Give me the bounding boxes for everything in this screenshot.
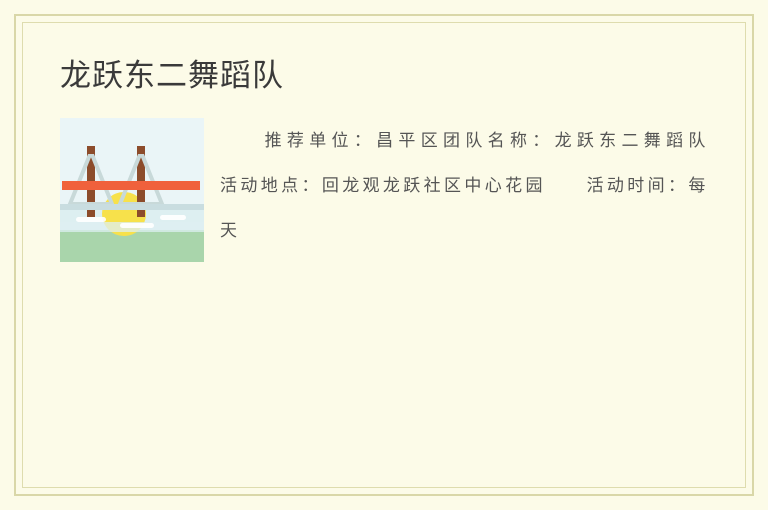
article-body: 推荐单位：昌平区团队名称：龙跃东二舞蹈队 活动地点：回龙观龙跃社区中心花园 活动… bbox=[60, 118, 708, 253]
page-root: 龙跃东二舞蹈队 bbox=[0, 0, 768, 510]
bridge-sunset-illustration-icon bbox=[60, 118, 204, 262]
page-title: 龙跃东二舞蹈队 bbox=[60, 56, 708, 96]
document-content: 龙跃东二舞蹈队 bbox=[22, 22, 746, 488]
